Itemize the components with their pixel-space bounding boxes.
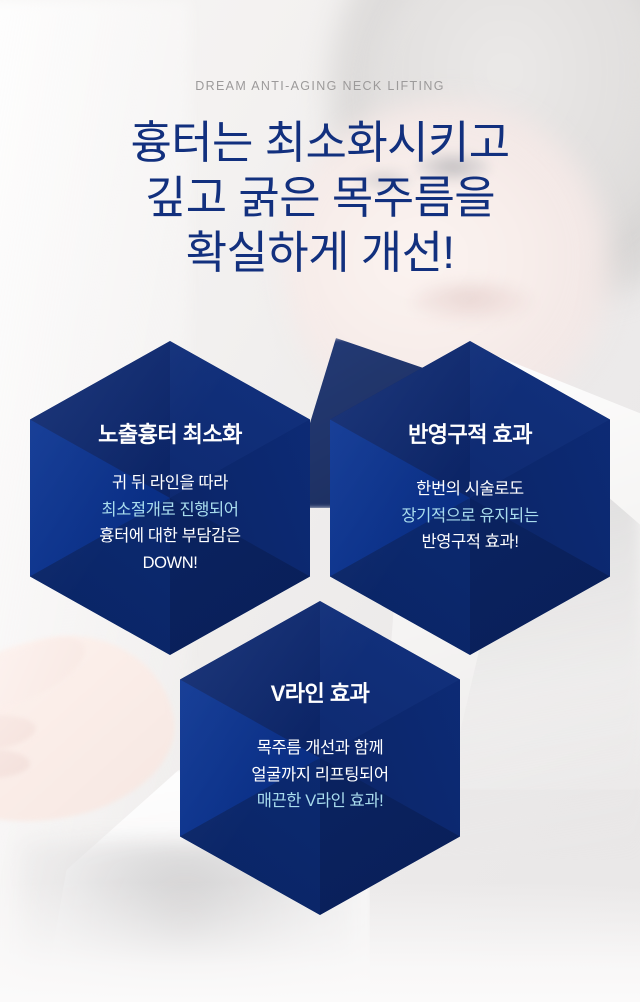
hexagon-body: 귀 뒤 라인을 따라최소절개로 진행되어흉터에 대한 부담감은DOWN! (99, 470, 240, 577)
page-title: 흉터는 최소화시키고 깊고 굵은 목주름을 확실하게 개선! (0, 115, 640, 281)
hexagon-title: 반영구적 효과 (408, 424, 532, 446)
hexagon-body-line: 매끈한 V라인 효과! (257, 792, 384, 810)
model-mouth-blur (412, 282, 532, 322)
header-block: DREAM ANTI-AGING NECK LIFTING 흉터는 최소화시키고… (0, 0, 640, 281)
eyebrow-tagline: DREAM ANTI-AGING NECK LIFTING (0, 80, 640, 93)
hexagon-title: 노출흉터 최소화 (98, 424, 242, 446)
hexagon-body-line: 귀 뒤 라인을 따라 (112, 474, 228, 492)
hexagon-body-line: 목주름 개선과 함께 (257, 739, 384, 757)
hexagon-body-line: 반영구적 효과! (421, 533, 518, 551)
hexagon-body-line: 최소절개로 진행되어 (101, 501, 238, 519)
hexagon-body: 목주름 개선과 함께얼굴까지 리프팅되어매끈한 V라인 효과! (251, 735, 388, 815)
hexagon-body-line: 흉터에 대한 부담감은 (99, 527, 240, 545)
hexagon-body-line: 장기적으로 유지되는 (401, 507, 538, 525)
hexagon-title: V라인 효과 (271, 683, 370, 705)
hexagon-body-line: 한번의 시술로도 (416, 480, 524, 498)
promo-page: DREAM ANTI-AGING NECK LIFTING 흉터는 최소화시키고… (0, 0, 640, 1002)
hexagon-body-line: DOWN! (143, 554, 198, 572)
hexagon-body: 한번의 시술로도장기적으로 유지되는반영구적 효과! (401, 476, 538, 556)
hexagon-body-line: 얼굴까지 리프팅되어 (251, 766, 388, 784)
